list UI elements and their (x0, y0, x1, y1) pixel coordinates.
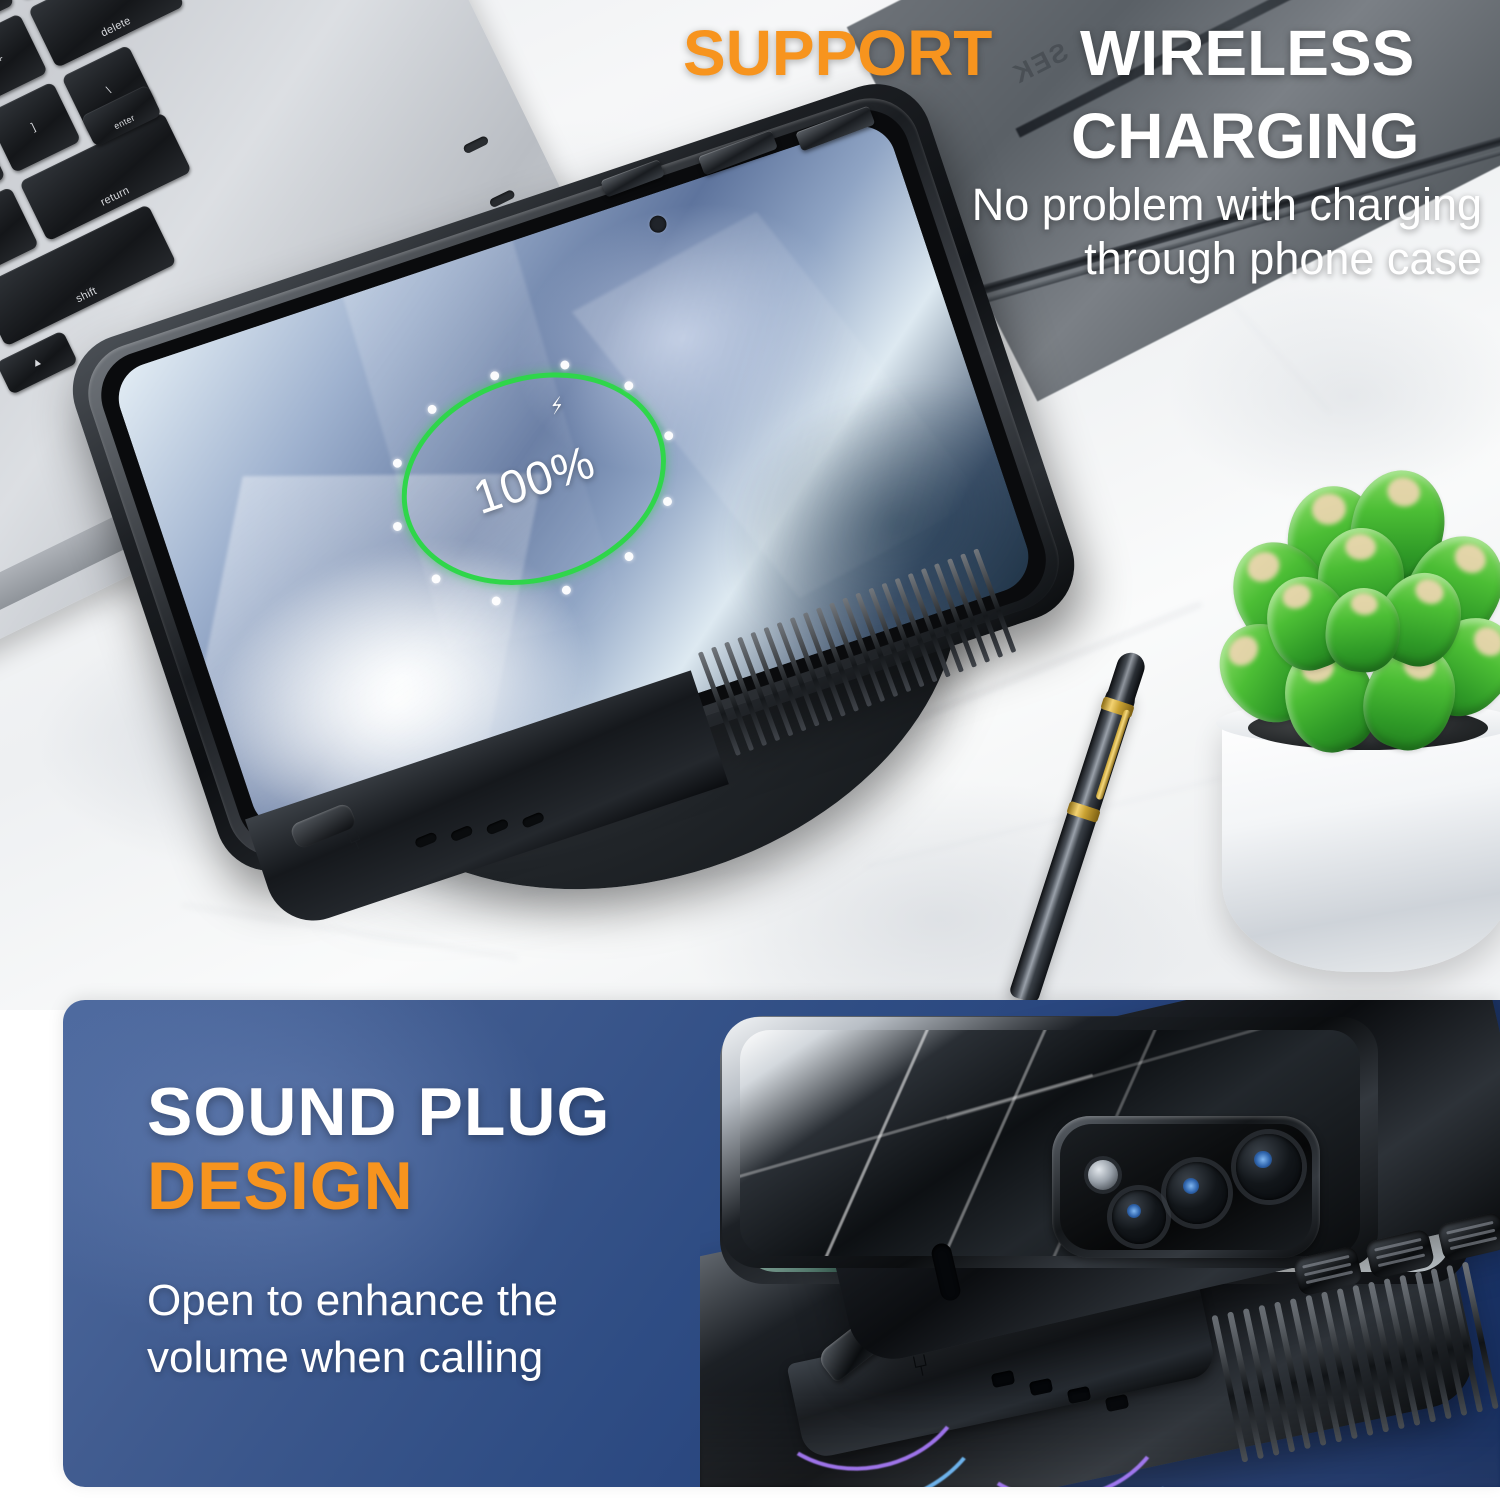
plant-pot (1222, 712, 1500, 972)
charging-dot (623, 551, 634, 562)
top-panel-wireless-charging: SEK F9 F10 F11 F12 ⏻ 9 0 - + (0, 0, 1500, 1010)
charging-dot (662, 496, 673, 507)
charging-dot (392, 458, 403, 469)
subheadline-line-1: No problem with charging (972, 180, 1482, 230)
headline-support: SUPPORT (683, 21, 992, 85)
headline-charging: CHARGING (1071, 104, 1419, 168)
headline-design: DESIGN (147, 1152, 414, 1220)
product-feature-image: SEK F9 F10 F11 F12 ⏻ 9 0 - + (0, 0, 1500, 1500)
phone-cases-group: ⑂ (700, 1000, 1500, 1487)
bottom-body-text: Open to enhance the volume when calling (147, 1272, 617, 1386)
front-camera-punch-hole (647, 213, 669, 235)
camera-flash-icon (1088, 1160, 1118, 1190)
charging-dot (426, 404, 437, 415)
camera-lens (1236, 1134, 1302, 1200)
headline-sound-plug: SOUND PLUG (147, 1078, 610, 1146)
headline-wireless: WIRELESS (1080, 21, 1414, 85)
glass-reflection-line (917, 1030, 1066, 1256)
glass-reflection-line (803, 1030, 940, 1256)
subheadline-line-2: through phone case (1084, 234, 1482, 284)
charging-dot (559, 359, 570, 370)
glass-reflection-line (946, 1030, 1274, 1120)
surface-reflection (700, 1352, 1500, 1487)
camera-lens (1166, 1162, 1228, 1224)
charging-dot (430, 573, 441, 584)
camera-lens (1112, 1190, 1166, 1244)
